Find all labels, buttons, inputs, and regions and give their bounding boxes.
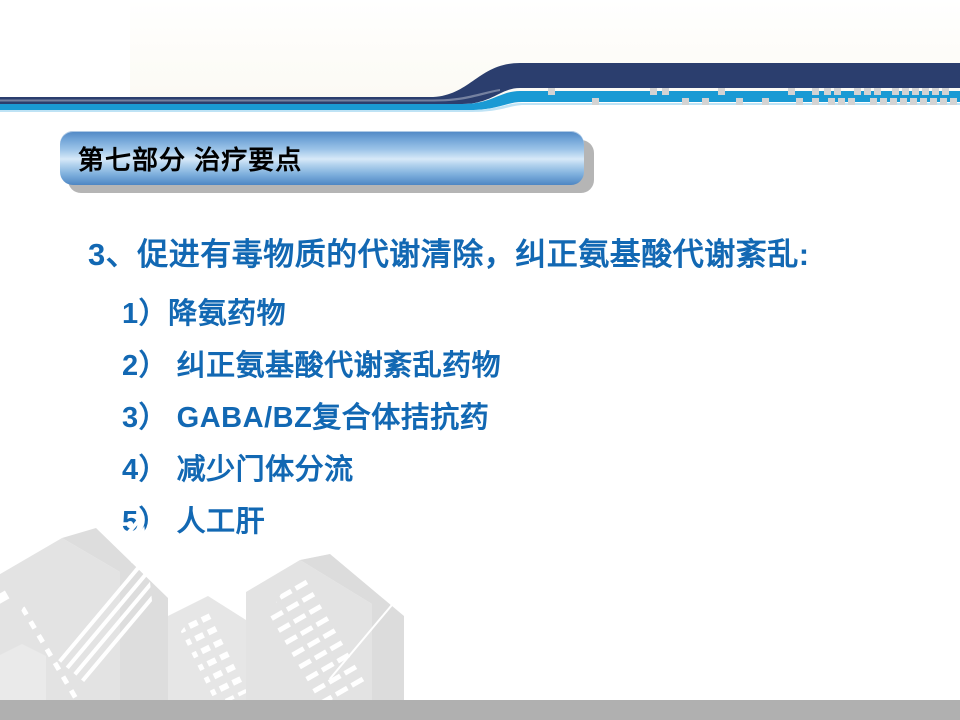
list-item: 1）降氨药物 [122, 288, 960, 340]
section-title-banner: 第七部分 治疗要点 [60, 131, 594, 193]
slide-canvas: 第七部分 治疗要点 3、促进有毒物质的代谢清除，纠正氨基酸代谢紊乱: 1）降氨药… [0, 0, 960, 720]
header-decoration-squares [540, 88, 960, 110]
lead-paragraph: 3、促进有毒物质的代谢清除，纠正氨基酸代谢紊乱: [0, 228, 960, 282]
bottom-bar [0, 700, 960, 720]
header-ribbon [0, 0, 960, 130]
section-title-text: 第七部分 治疗要点 [78, 140, 302, 177]
list-item: 2） 纠正氨基酸代谢紊乱药物 [122, 340, 960, 392]
list-item: 5） 人工肝 [122, 496, 960, 548]
slide-content: 3、促进有毒物质的代谢清除，纠正氨基酸代谢紊乱: 1）降氨药物 2） 纠正氨基酸… [0, 228, 960, 548]
list-item: 3） GABA/BZ复合体拮抗药 [122, 392, 960, 444]
list-item: 4） 减少门体分流 [122, 444, 960, 496]
treatment-point-list: 1）降氨药物 2） 纠正氨基酸代谢紊乱药物 3） GABA/BZ复合体拮抗药 4… [0, 288, 960, 548]
banner-body: 第七部分 治疗要点 [60, 131, 584, 185]
